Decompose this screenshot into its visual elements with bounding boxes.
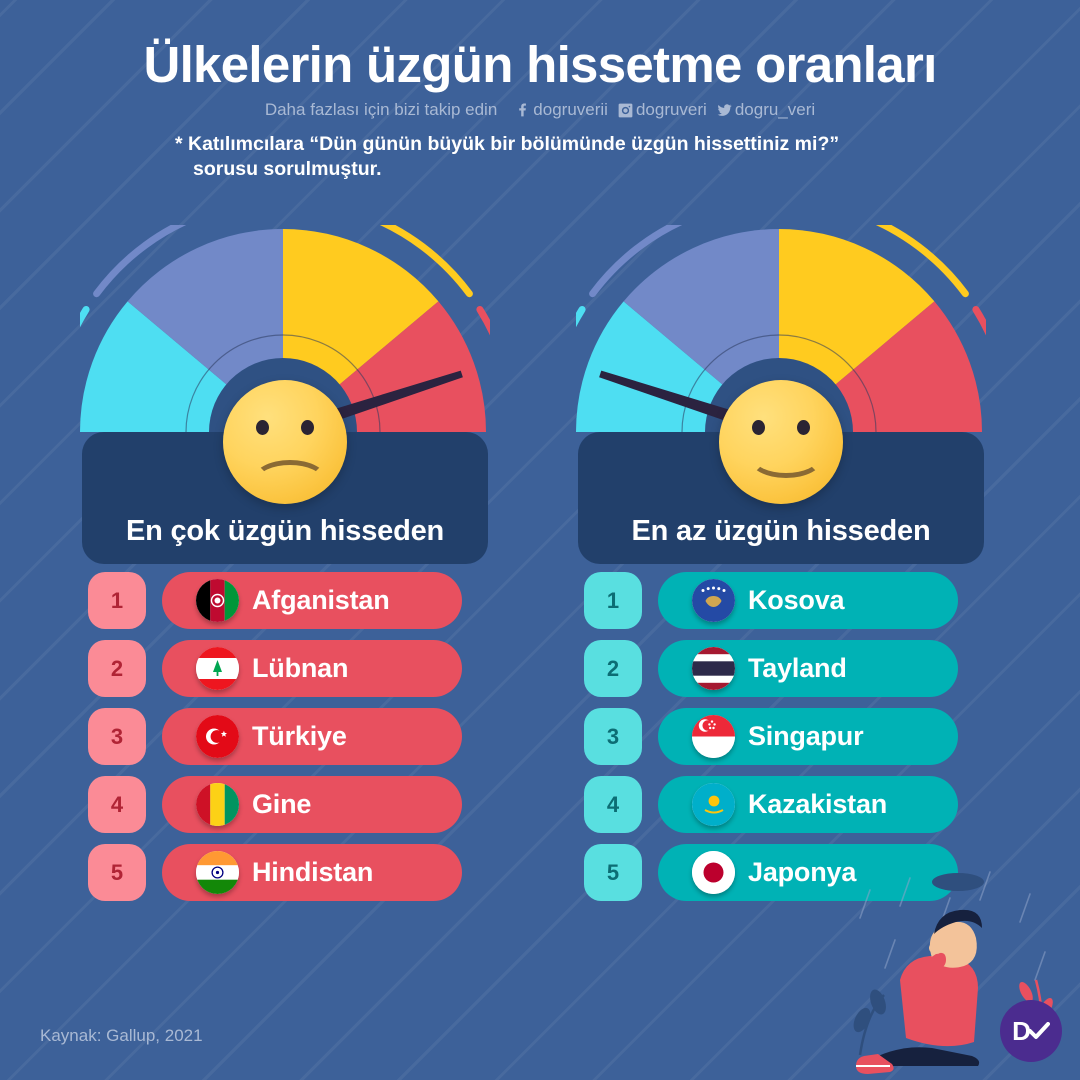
flag-turkey bbox=[196, 715, 239, 758]
brand-logo[interactable]: D bbox=[1000, 1000, 1062, 1062]
country-bar[interactable]: Kosova bbox=[658, 572, 958, 629]
list-item[interactable]: 4 Gine bbox=[88, 776, 462, 833]
panel-most-sad: En çok üzgün hisseden bbox=[80, 225, 490, 564]
country-bar[interactable]: Tayland bbox=[658, 640, 958, 697]
follow-label: Daha fazlası için bizi takip edin bbox=[265, 100, 497, 120]
country-name: Singapur bbox=[748, 721, 863, 752]
person-hand bbox=[929, 942, 943, 954]
flag-kosovo bbox=[692, 579, 735, 622]
card-title-most-sad: En çok üzgün hisseden bbox=[82, 515, 488, 548]
country-name: Tayland bbox=[748, 653, 847, 684]
card-title-least-sad: En az üzgün hisseden bbox=[578, 515, 984, 548]
country-name: Türkiye bbox=[252, 721, 347, 752]
country-name: Afganistan bbox=[252, 585, 390, 616]
infographic-canvas: Ülkelerin üzgün hissetme oranları Daha f… bbox=[0, 0, 1080, 1080]
rank-badge: 3 bbox=[584, 708, 642, 765]
rank-badge: 3 bbox=[88, 708, 146, 765]
checkmark-icon bbox=[1028, 1022, 1050, 1040]
country-bar[interactable]: Gine bbox=[162, 776, 462, 833]
eye-right bbox=[301, 420, 314, 435]
panel-least-sad: En az üzgün hisseden bbox=[576, 225, 986, 564]
country-bar[interactable]: Afganistan bbox=[162, 572, 462, 629]
ranking-list-most-sad: 1 Afganistan 2 Lübnan 3 bbox=[88, 572, 462, 912]
twitter-handle-text: dogru_veri bbox=[735, 100, 815, 120]
source-note: Kaynak: Gallup, 2021 bbox=[40, 1026, 203, 1046]
rank-badge: 5 bbox=[584, 844, 642, 901]
country-bar[interactable]: Singapur bbox=[658, 708, 958, 765]
country-name: Lübnan bbox=[252, 653, 348, 684]
page-title: Ülkelerin üzgün hissetme oranları bbox=[0, 0, 1080, 92]
flag-guinea bbox=[196, 783, 239, 826]
instagram-icon bbox=[618, 103, 633, 118]
flag-kazakhstan bbox=[692, 783, 735, 826]
rank-badge: 1 bbox=[584, 572, 642, 629]
country-name: Kazakistan bbox=[748, 789, 887, 820]
rank-badge: 4 bbox=[88, 776, 146, 833]
list-item[interactable]: 3 Singapur bbox=[584, 708, 958, 765]
flag-lebanon bbox=[196, 647, 239, 690]
country-name: Kosova bbox=[748, 585, 844, 616]
list-item[interactable]: 5 Hindistan bbox=[88, 844, 462, 901]
facebook-handle-text: dogruverii bbox=[533, 100, 608, 120]
gauge-right bbox=[576, 225, 986, 440]
eye-left bbox=[752, 420, 765, 435]
social-handle-instagram[interactable]: dogruveri bbox=[618, 100, 707, 120]
flag-india bbox=[196, 851, 239, 894]
rank-badge: 1 bbox=[88, 572, 146, 629]
question-note-line1: * Katılımcılara “Dün günün büyük bir böl… bbox=[175, 133, 839, 155]
list-item[interactable]: 2 Lübnan bbox=[88, 640, 462, 697]
question-note-line2: sorusu sorulmuştur. bbox=[175, 157, 915, 183]
sad-face bbox=[223, 380, 347, 504]
country-name: Gine bbox=[252, 789, 311, 820]
eye-right bbox=[797, 420, 810, 435]
country-bar[interactable]: Kazakistan bbox=[658, 776, 958, 833]
facebook-icon bbox=[515, 103, 530, 118]
flag-afghanistan bbox=[196, 579, 239, 622]
list-item[interactable]: 1 Kosova bbox=[584, 572, 958, 629]
country-name: Hindistan bbox=[252, 857, 373, 888]
social-handle-facebook[interactable]: dogruverii bbox=[515, 100, 608, 120]
country-bar[interactable]: Lübnan bbox=[162, 640, 462, 697]
list-item[interactable]: 1 Afganistan bbox=[88, 572, 462, 629]
plant-left bbox=[850, 987, 889, 1055]
flag-japan bbox=[692, 851, 735, 894]
social-handle-twitter[interactable]: dogru_veri bbox=[717, 100, 815, 120]
country-bar[interactable]: Türkiye bbox=[162, 708, 462, 765]
flag-thailand bbox=[692, 647, 735, 690]
rank-badge: 2 bbox=[584, 640, 642, 697]
list-item[interactable]: 3 Türkiye bbox=[88, 708, 462, 765]
country-bar[interactable]: Hindistan bbox=[162, 844, 462, 901]
mouth-smile bbox=[749, 438, 823, 478]
gauge-left bbox=[80, 225, 490, 440]
instagram-handle-text: dogruveri bbox=[636, 100, 707, 120]
list-item[interactable]: 2 Tayland bbox=[584, 640, 958, 697]
flag-singapore bbox=[692, 715, 735, 758]
mouth-frown bbox=[253, 460, 327, 500]
question-note: * Katılımcılara “Dün günün büyük bir böl… bbox=[165, 132, 915, 183]
rank-badge: 5 bbox=[88, 844, 146, 901]
list-item[interactable]: 4 Kazakistan bbox=[584, 776, 958, 833]
rank-badge: 4 bbox=[584, 776, 642, 833]
header: Ülkelerin üzgün hissetme oranları Daha f… bbox=[0, 0, 1080, 183]
rank-badge: 2 bbox=[88, 640, 146, 697]
happy-face bbox=[719, 380, 843, 504]
cloud bbox=[932, 873, 984, 891]
eye-left bbox=[256, 420, 269, 435]
social-follow-row: Daha fazlası için bizi takip edin dogruv… bbox=[0, 100, 1080, 120]
twitter-icon bbox=[717, 103, 732, 118]
